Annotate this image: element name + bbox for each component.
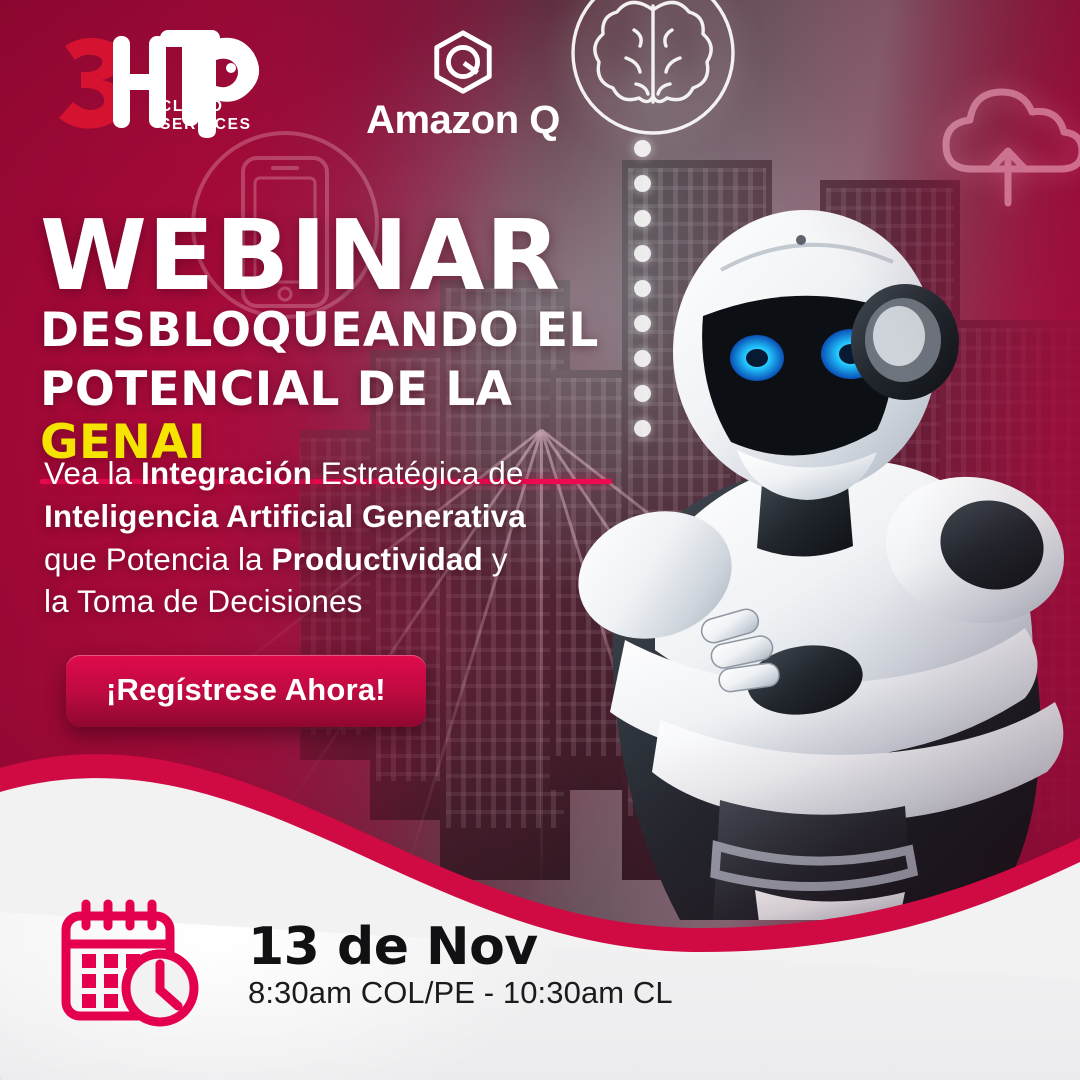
event-text: 13 de Nov 8:30am COL/PE - 10:30am CL xyxy=(248,920,673,1011)
body-line1-a: Vea la xyxy=(44,455,141,491)
body-line1-bold: Integración xyxy=(141,455,312,491)
event-datetime-block: 13 de Nov 8:30am COL/PE - 10:30am CL xyxy=(56,896,673,1034)
logo-row: CLOUD SERVICES Amazon Q xyxy=(55,28,563,140)
body-line1-c: Estratégica de xyxy=(312,455,524,491)
event-time: 8:30am COL/PE - 10:30am CL xyxy=(248,976,673,1010)
htp-cloud-services-logo: CLOUD SERVICES xyxy=(55,28,285,140)
event-date: 13 de Nov xyxy=(248,920,673,975)
calendar-clock-icon xyxy=(56,896,208,1034)
headline-main: WEBINAR xyxy=(40,212,660,299)
headline-line3-prefix: POTENCIAL DE LA xyxy=(40,362,512,417)
amazon-q-logo: Amazon Q xyxy=(363,28,563,140)
headline-line2: DESBLOQUEANDO EL xyxy=(40,305,660,358)
register-now-button[interactable]: ¡Regístrese Ahora! xyxy=(66,655,426,727)
webinar-promo-poster: CLOUD SERVICES Amazon Q WEBINAR DESBLOQU… xyxy=(0,0,1080,1080)
cloud-upload-icon xyxy=(930,65,1080,215)
body-line3-bold: Productividad xyxy=(272,541,483,577)
body-line2-bold: Inteligencia Artificial Generativa xyxy=(44,498,526,534)
amazon-q-hexagon-icon xyxy=(426,28,500,98)
body-copy: Vea la Integración Estratégica de Inteli… xyxy=(44,452,644,623)
body-line3-c: y xyxy=(483,541,508,577)
headline-block: WEBINAR DESBLOQUEANDO EL POTENCIAL DE LA… xyxy=(40,212,660,484)
body-line4: la Toma de Decisiones xyxy=(44,583,362,619)
htp-tagline: CLOUD SERVICES xyxy=(160,98,285,134)
brain-neon-icon xyxy=(558,0,748,148)
body-line3-a: que Potencia la xyxy=(44,541,272,577)
amazon-q-wordmark: Amazon Q xyxy=(366,100,560,140)
